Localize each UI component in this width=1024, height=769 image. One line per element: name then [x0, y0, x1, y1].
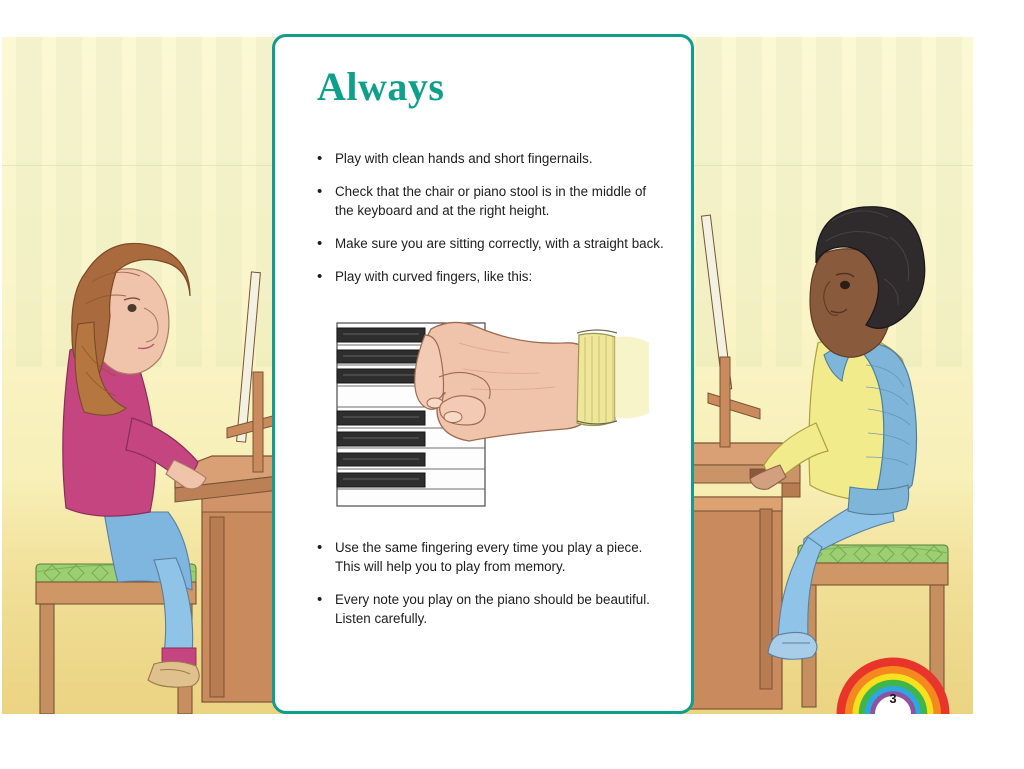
hand — [415, 322, 591, 441]
page-title: Always — [317, 67, 444, 107]
list-item: Make sure you are sitting correctly, wit… — [315, 234, 665, 253]
always-rules-list-bottom: Use the same fingering every time you pl… — [315, 538, 665, 642]
list-item: Play with clean hands and short fingerna… — [315, 149, 665, 168]
list-item: Check that the chair or piano stool is i… — [315, 182, 665, 220]
page-number: 3 — [882, 691, 904, 706]
list-item: Every note you play on the piano should … — [315, 590, 665, 628]
list-item: Play with curved fingers, like this: — [315, 267, 665, 286]
boy-head — [810, 207, 925, 358]
screenshot-root: 3 Always Play with clean hands and short… — [0, 0, 1024, 769]
instruction-card: Always Play with clean hands and short f… — [272, 34, 694, 714]
hand-on-piano-keys-illustration — [331, 317, 651, 512]
list-item: Use the same fingering every time you pl… — [315, 538, 665, 576]
sleeve-cuff — [577, 330, 649, 426]
boy-seated-at-piano-illustration — [690, 197, 973, 714]
girl-seated-at-piano-illustration — [12, 212, 297, 714]
always-rules-list-top: Play with clean hands and short fingerna… — [315, 149, 665, 300]
